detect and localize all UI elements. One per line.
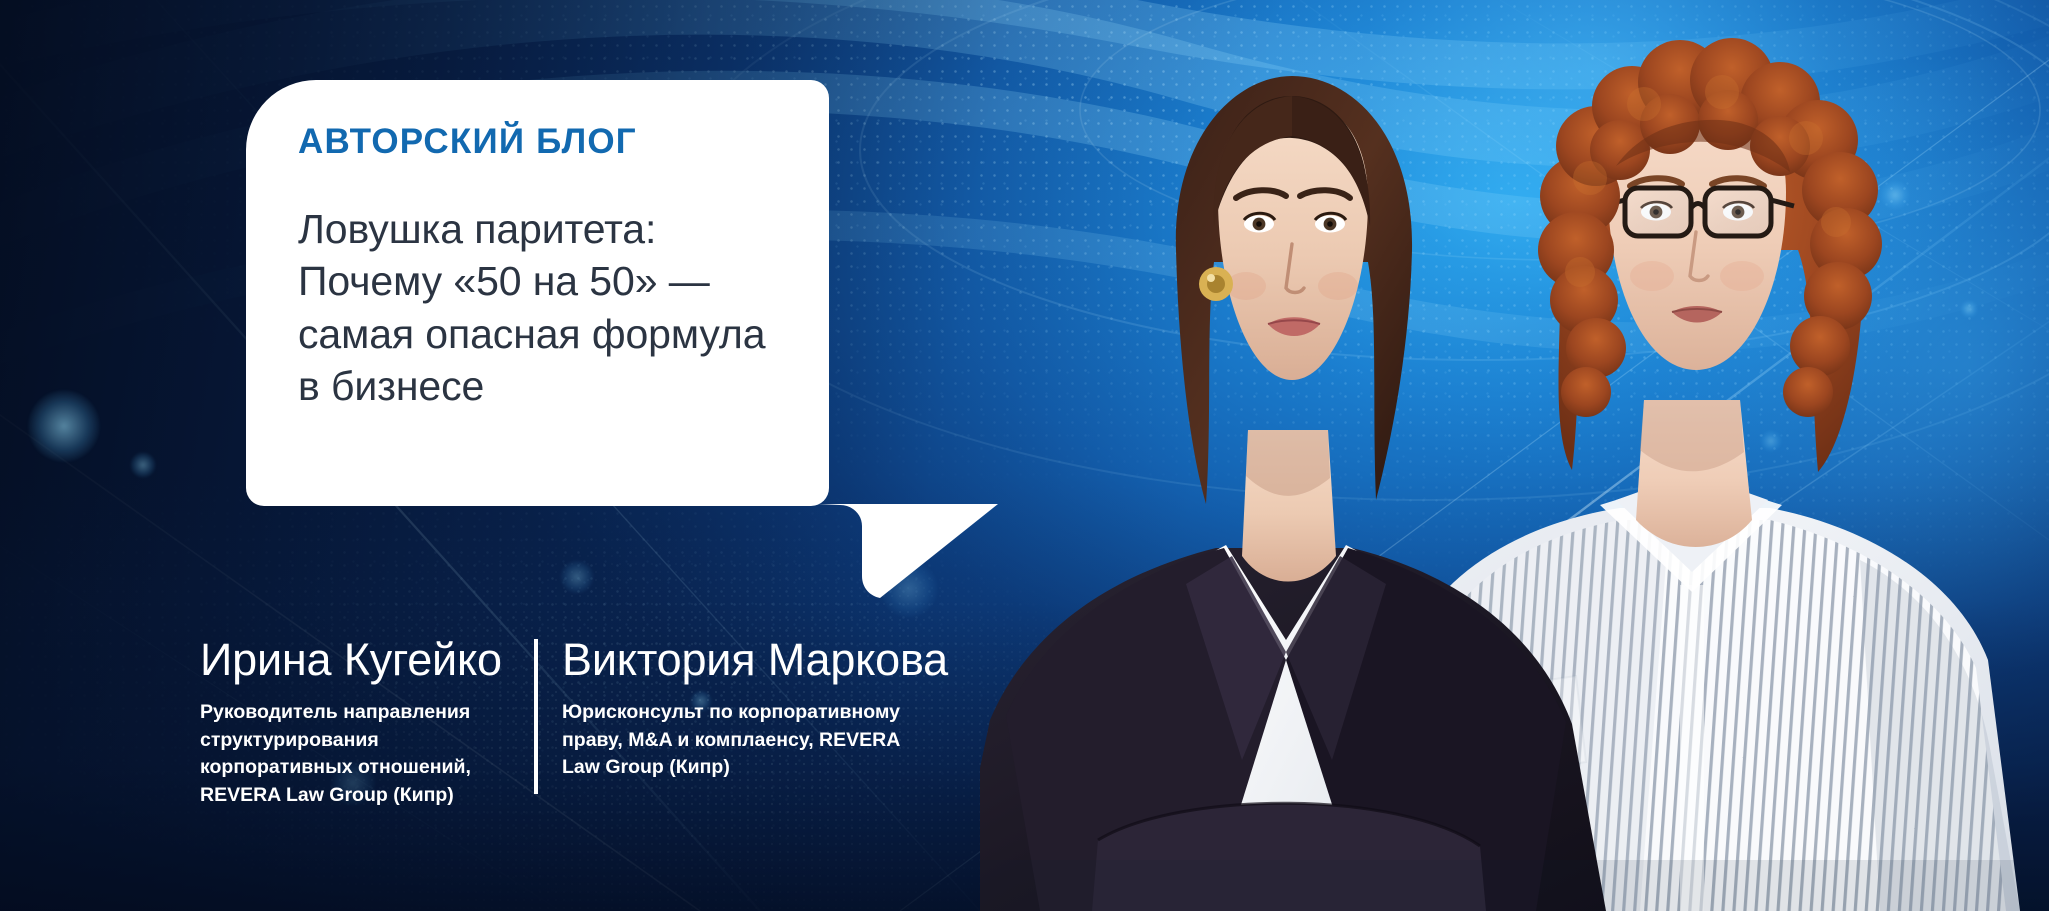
blog-title: Ловушка паритета: Почему «50 на 50» — са… bbox=[298, 203, 777, 413]
bokeh-particle bbox=[28, 390, 100, 462]
speech-bubble: АВТОРСКИЙ БЛОГ Ловушка паритета: Почему … bbox=[246, 80, 829, 506]
speaker-name-2: Виктория Маркова bbox=[562, 637, 962, 682]
bokeh-particle bbox=[560, 560, 594, 594]
speech-bubble-tail bbox=[818, 504, 998, 600]
credit-block-2: Виктория Маркова Юрисконсульт по корпора… bbox=[538, 637, 962, 782]
speaker-credits: Ирина Кугейко Руководитель направления с… bbox=[200, 637, 962, 810]
bokeh-particle bbox=[130, 452, 156, 478]
speaker-role-1: Руководитель направления структурировани… bbox=[200, 699, 512, 810]
banner-root: АВТОРСКИЙ БЛОГ Ловушка паритета: Почему … bbox=[0, 0, 2049, 911]
speaker-name-1: Ирина Кугейко bbox=[200, 637, 512, 682]
speakers-photo bbox=[980, 0, 2049, 911]
blog-kicker: АВТОРСКИЙ БЛОГ bbox=[298, 124, 777, 159]
speaker-role-2: Юрисконсульт по корпоративному праву, M&… bbox=[562, 699, 962, 782]
speaker-left bbox=[980, 76, 1606, 911]
credit-block-1: Ирина Кугейко Руководитель направления с… bbox=[200, 637, 534, 810]
